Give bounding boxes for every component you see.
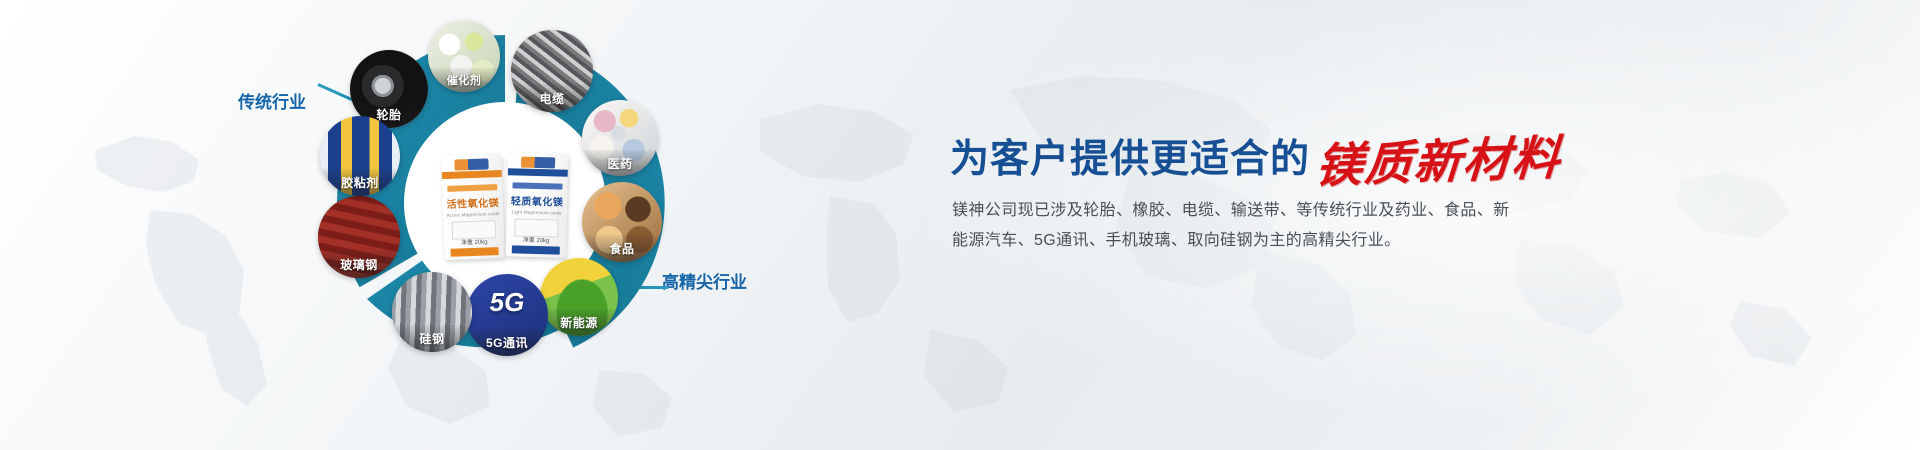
bubble-5g-communication[interactable]: 5G 5G通讯 <box>466 274 548 356</box>
product-name-cn: 轻质氧化镁 <box>507 196 567 209</box>
description-line-2: 能源汽车、5G通讯、手机玻璃、取向硅钢为主的高精尖行业。 <box>952 226 1592 256</box>
five-g-glyph: 5G <box>466 287 548 318</box>
bubble-food[interactable]: 食品 <box>582 182 662 262</box>
marketing-copy: 为客户提供更适合的 镁质新材料 镁神公司现已涉及轮胎、橡胶、电缆、输送带、等传统… <box>950 0 1770 450</box>
product-net-weight: 净重 20kg <box>506 234 566 245</box>
industry-wheel-infographic: 传统行业 高精尖行业 <box>0 0 800 450</box>
bag-footer <box>450 247 498 257</box>
company-logo-icon <box>521 157 555 169</box>
bubble-label: 玻璃钢 <box>318 250 400 278</box>
bubble-silicon-steel[interactable]: 硅钢 <box>392 272 472 352</box>
bubble-adhesive[interactable]: 胶粘剂 <box>320 116 400 196</box>
bubble-label: 医药 <box>582 150 658 176</box>
bubble-catalyst[interactable]: 催化剂 <box>428 20 500 92</box>
bag-footer <box>512 245 560 254</box>
product-net-weight: 净重 20kg <box>444 236 504 247</box>
bag-band <box>447 184 497 192</box>
bag-band <box>512 182 562 189</box>
product-bag-active-mgo: 活性氧化镁 Active Magnesium oxide 净重 20kg <box>441 154 505 260</box>
bubble-frp[interactable]: 玻璃钢 <box>318 196 400 278</box>
headline: 为客户提供更适合的 镁质新材料 <box>950 128 1561 184</box>
product-name-en: Active Magnesium oxide <box>443 211 503 218</box>
bubble-label: 5G通讯 <box>466 328 548 356</box>
label-traditional-industries: 传统行业 <box>238 88 306 113</box>
headline-red-text: 镁质新材料 <box>1314 137 1563 189</box>
bag-strip <box>442 170 502 179</box>
product-bag-light-mgo: 轻质氧化镁 Light Magnesium oxide 净重 20kg <box>506 152 569 258</box>
bubble-label: 电缆 <box>511 84 593 112</box>
bubble-label: 硅钢 <box>392 325 472 352</box>
bubble-cable[interactable]: 电缆 <box>511 30 593 112</box>
bubble-pharmaceutical[interactable]: 医药 <box>582 100 658 176</box>
product-name-cn: 活性氧化镁 <box>443 198 503 211</box>
description-paragraph: 镁神公司现已涉及轮胎、橡胶、电缆、输送带、等传统行业及药业、食品、新 能源汽车、… <box>952 196 1592 256</box>
headline-blue-text: 为客户提供更适合的 <box>950 128 1310 184</box>
description-line-1: 镁神公司现已涉及轮胎、橡胶、电缆、输送带、等传统行业及药业、食品、新 <box>952 196 1592 226</box>
bubble-label: 新能源 <box>540 309 618 336</box>
product-name-en: Light Magnesium oxide <box>507 209 567 216</box>
bubble-label: 胶粘剂 <box>320 169 400 196</box>
bag-strip <box>508 168 568 177</box>
bubble-label: 催化剂 <box>428 68 500 92</box>
company-logo-icon <box>454 158 488 170</box>
bubble-new-energy[interactable]: 新能源 <box>540 258 618 336</box>
